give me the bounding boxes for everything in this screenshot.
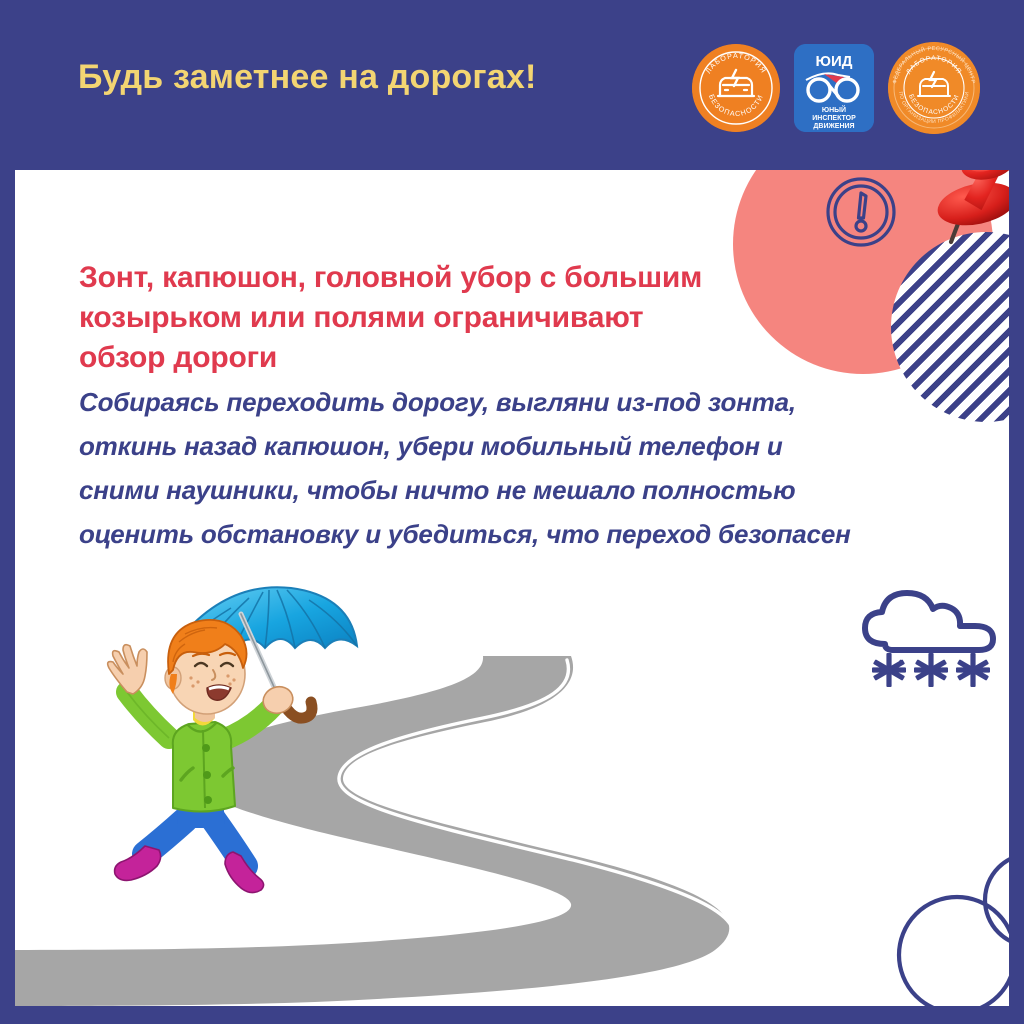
pushpin-icon bbox=[927, 170, 1009, 262]
bottom-strip bbox=[0, 1006, 1024, 1024]
headline-line-2: козырьком или полями ограничивают bbox=[79, 298, 979, 338]
svg-text:ЮНЫЙ: ЮНЫЙ bbox=[822, 105, 846, 114]
yuid-logo: ЮИД ЮНЫЙ ИНСПЕКТОР ДВИЖЕНИЯ bbox=[794, 44, 874, 132]
body-line-3: сними наушники, чтобы ничто не мешало по… bbox=[79, 468, 979, 512]
text-block: Зонт, капюшон, головной убор с большим к… bbox=[79, 258, 979, 556]
boy-with-umbrella-illustration bbox=[73, 570, 403, 900]
body-line-2: откинь назад капюшон, убери мобильный те… bbox=[79, 424, 979, 468]
laboratory-of-safety-logo: ЛАБОРАТОРИЯ БЕЗОПАСНОСТИ bbox=[692, 44, 780, 132]
svg-text:ЮИД: ЮИД bbox=[816, 53, 853, 70]
headline-line-3: обзор дороги bbox=[79, 338, 979, 378]
logo-group: ЛАБОРАТОРИЯ БЕЗОПАСНОСТИ bbox=[692, 42, 980, 134]
headline-line-1: Зонт, капюшон, головной убор с большим bbox=[79, 258, 979, 298]
yuid-logo-graphic: ЮИД ЮНЫЙ ИНСПЕКТОР ДВИЖЕНИЯ bbox=[794, 44, 874, 132]
page-title: Будь заметнее на дорогах! bbox=[78, 58, 537, 97]
headline: Зонт, капюшон, головной убор с большим к… bbox=[79, 258, 979, 378]
federal-center-laboratory-logo-graphic: ФЕДЕРАЛЬНЫЙ РЕСУРСНЫЙ ЦЕНТР ПО ОРГАНИЗАЦ… bbox=[888, 42, 980, 134]
federal-center-laboratory-logo: ФЕДЕРАЛЬНЫЙ РЕСУРСНЫЙ ЦЕНТР ПО ОРГАНИЗАЦ… bbox=[888, 42, 980, 134]
body-line-4: оценить обстановку и убедиться, что пере… bbox=[79, 512, 979, 556]
content-card: Зонт, капюшон, головной убор с большим к… bbox=[15, 170, 1009, 1006]
laboratory-of-safety-logo-graphic: ЛАБОРАТОРИЯ БЕЗОПАСНОСТИ bbox=[692, 44, 780, 132]
svg-text:ИНСПЕКТОР: ИНСПЕКТОР bbox=[812, 115, 856, 122]
exclamation-circle-icon bbox=[825, 176, 897, 248]
outline-circles-decoration bbox=[895, 830, 1009, 1006]
body-text: Собираясь переходить дорогу, выгляни из-… bbox=[79, 380, 979, 556]
poster-header: Будь заметнее на дорогах! ЛАБОРАТОРИЯ БЕ… bbox=[0, 0, 1024, 170]
svg-text:ДВИЖЕНИЯ: ДВИЖЕНИЯ bbox=[813, 123, 854, 130]
body-line-1: Собираясь переходить дорогу, выгляни из-… bbox=[79, 380, 979, 424]
poster-root: Будь заметнее на дорогах! ЛАБОРАТОРИЯ БЕ… bbox=[0, 0, 1024, 1024]
left-hand bbox=[108, 645, 147, 694]
